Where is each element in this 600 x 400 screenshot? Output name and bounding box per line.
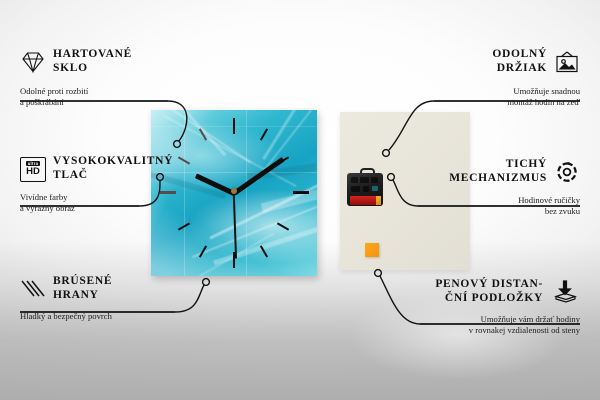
feature-description: Umožňuje vám držať hodiny v rovnakej vzd… [365,314,580,336]
feature-foam-spacers: PENOVÝ DISTAN- ČNÍ PODLOŽKY Umožňuje vám… [365,278,580,336]
ultra-hd-icon: ultra HD [20,157,46,181]
clock-hub [231,188,237,194]
polished-edges-icon [20,277,46,301]
gear-icon [554,160,580,184]
clock-movement [347,168,383,206]
feature-tempered-glass: HARTOVANÉ SKLO Odolné proti rozbití a po… [20,48,195,108]
feature-title: HARTOVANÉ SKLO [53,48,132,75]
feature-high-quality-print: ultra HD VYSOKOKVALITNÝ TLAČ Vivídne far… [20,155,195,214]
feature-silent-mechanism: TICHÝ MECHANIZMUS Hodinové ručičky bez z… [395,158,580,217]
feature-title: BRÚSENÉ HRANY [53,275,112,302]
feature-description: Umožňuje snadnou montáž hodin na zeď [400,86,580,108]
feature-title: ODOLNÝ DRŽIAK [492,48,547,75]
feature-title: PENOVÝ DISTAN- ČNÍ PODLOŽKY [435,278,543,305]
wall-frame-icon [554,50,580,74]
foam-spacer-pad [365,243,379,257]
spacer-stack-icon [550,280,580,304]
feature-description: Vivídne farby a výrazný obraz [20,192,195,214]
feature-durable-hanger: ODOLNÝ DRŽIAK Umožňuje snadnou montáž ho… [400,48,580,108]
feature-description: Hladký a bezpečný povrch [20,311,205,322]
feature-description: Hodinové ručičky bez zvuku [395,195,580,217]
feature-title: VYSOKOKVALITNÝ TLAČ [53,155,173,182]
product-infographic: HARTOVANÉ SKLO Odolné proti rozbití a po… [0,0,600,400]
battery [350,196,381,205]
diamond-icon [20,50,46,74]
feature-description: Odolné proti rozbití a poškrábání [20,86,195,108]
movement-body [347,173,383,206]
battery-terminal [376,196,381,205]
feature-title: TICHÝ MECHANIZMUS [449,158,547,185]
feature-polished-edges: BRÚSENÉ HRANY Hladký a bezpečný povrch [20,275,205,322]
